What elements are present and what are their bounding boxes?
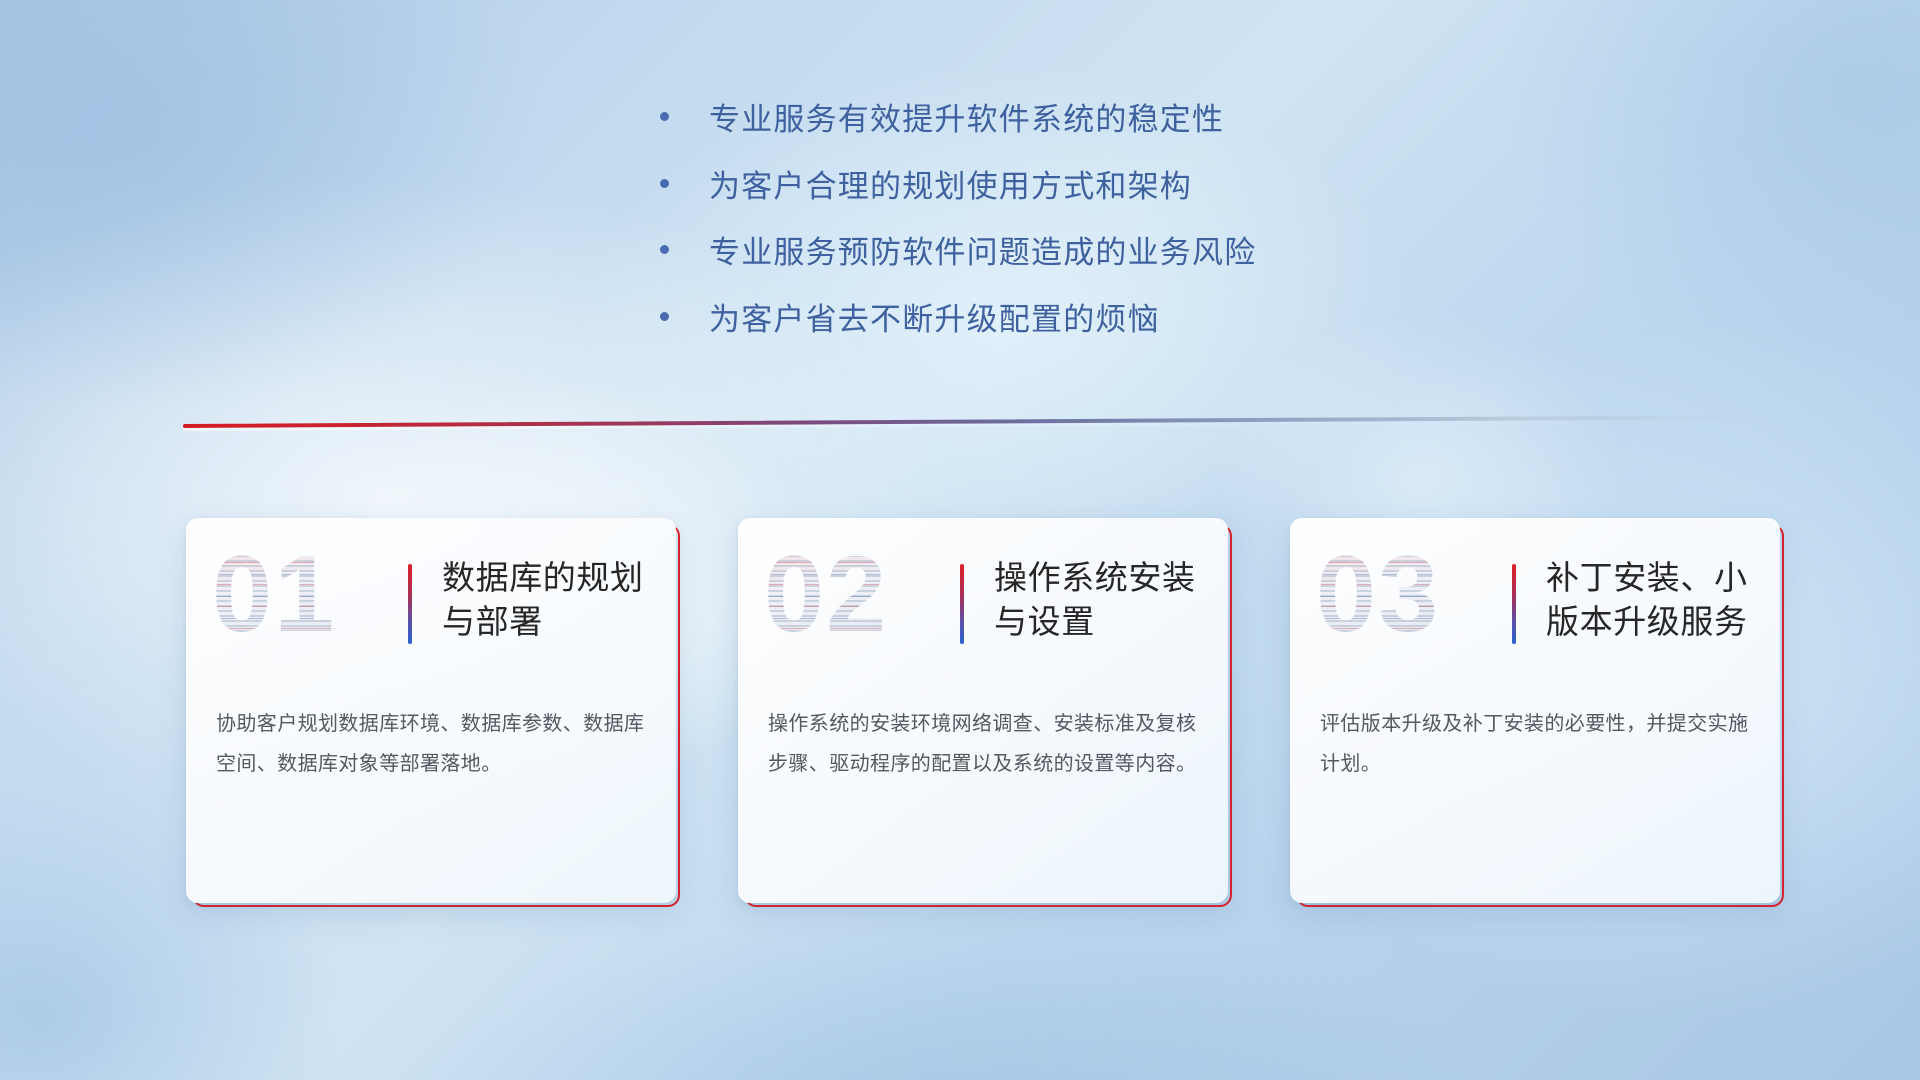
bullet-dot-icon (660, 312, 669, 321)
card-header: 01 01 数据库的规划与部署 (186, 518, 676, 690)
card-title: 数据库的规划与部署 (442, 556, 654, 643)
bullet-list: 专业服务有效提升软件系统的稳定性 为客户合理的规划使用方式和架构 专业服务预防软… (660, 103, 1420, 370)
card-title-accent-bar (960, 564, 964, 644)
card-number-ghost-stripes: 01 (212, 540, 336, 648)
bullet-text: 为客户省去不断升级配置的烦恼 (709, 303, 1160, 338)
card-number-ghost-stripes: 02 (764, 540, 888, 648)
card-surface: 02 02 操作系统安装与设置 操作系统的安装环境网络调查、安装标准及复核步骤、… (738, 518, 1228, 903)
bullet-text: 专业服务有效提升软件系统的稳定性 (709, 103, 1224, 138)
card-description: 评估版本升级及补丁安装的必要性，并提交实施计划。 (1320, 704, 1754, 784)
card-number-ghost-stripes: 03 (1316, 540, 1440, 648)
bullet-dot-icon (660, 245, 669, 254)
card-title-accent-bar (1512, 564, 1516, 644)
card-description: 操作系统的安装环境网络调查、安装标准及复核步骤、驱动程序的配置以及系统的设置等内… (768, 704, 1202, 784)
service-card-01[interactable]: 01 01 数据库的规划与部署 协助客户规划数据库环境、数据库参数、数据库空间、… (186, 518, 676, 903)
bullet-dot-icon (660, 112, 669, 121)
card-title-accent-bar (408, 564, 412, 644)
card-title: 补丁安装、小版本升级服务 (1546, 556, 1758, 643)
service-card-group: 01 01 数据库的规划与部署 协助客户规划数据库环境、数据库参数、数据库空间、… (186, 518, 1780, 903)
card-title: 操作系统安装与设置 (994, 556, 1206, 643)
list-item: 专业服务有效提升软件系统的稳定性 (660, 103, 1420, 138)
card-surface: 01 01 数据库的规划与部署 协助客户规划数据库环境、数据库参数、数据库空间、… (186, 518, 676, 903)
bullet-dot-icon (660, 179, 669, 188)
service-card-03[interactable]: 03 03 补丁安装、小版本升级服务 评估版本升级及补丁安装的必要性，并提交实施… (1290, 518, 1780, 903)
card-surface: 03 03 补丁安装、小版本升级服务 评估版本升级及补丁安装的必要性，并提交实施… (1290, 518, 1780, 903)
card-header: 02 02 操作系统安装与设置 (738, 518, 1228, 690)
bullet-text: 专业服务预防软件问题造成的业务风险 (709, 236, 1256, 271)
service-card-02[interactable]: 02 02 操作系统安装与设置 操作系统的安装环境网络调查、安装标准及复核步骤、… (738, 518, 1228, 903)
bullet-text: 为客户合理的规划使用方式和架构 (709, 170, 1192, 205)
list-item: 专业服务预防软件问题造成的业务风险 (660, 236, 1420, 271)
list-item: 为客户合理的规划使用方式和架构 (660, 170, 1420, 205)
list-item: 为客户省去不断升级配置的烦恼 (660, 303, 1420, 338)
card-header: 03 03 补丁安装、小版本升级服务 (1290, 518, 1780, 690)
section-divider (183, 424, 1748, 438)
card-description: 协助客户规划数据库环境、数据库参数、数据库空间、数据库对象等部署落地。 (216, 704, 650, 784)
